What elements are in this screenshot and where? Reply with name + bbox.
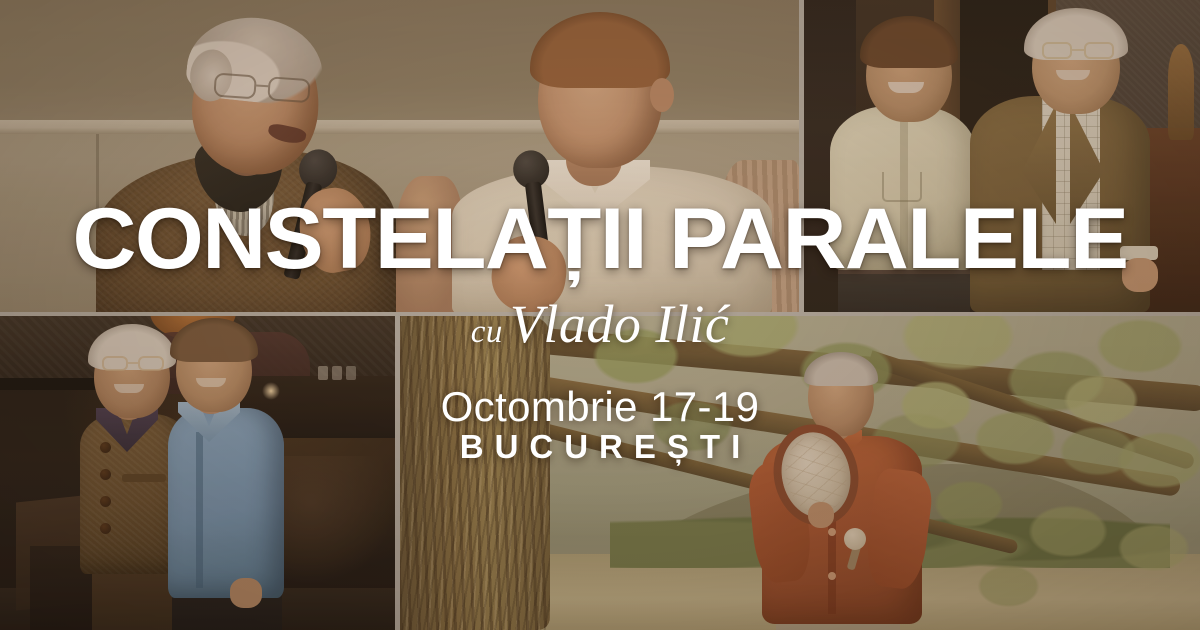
divider-horizontal-left [0,312,400,316]
young-man-hand [230,578,262,608]
right-man-smile [1056,70,1090,80]
outdoor-tree-scene [400,316,1200,630]
restaurant-scene [0,316,395,630]
young-speaker-ear [650,78,674,112]
elder-man-smile [114,384,144,393]
photo-panel-bottom-left [0,316,395,630]
background-diners [275,456,395,586]
glass-1 [318,366,328,380]
jacket-buttons [100,442,112,560]
event-poster: CONSTELAȚII PARALELE cuVlado Ilić Octomb… [0,0,1200,630]
drum-beater-head [844,528,866,550]
young-man-blue-shirt [168,408,284,598]
drummer-grey-hair [804,352,878,386]
carved-figurine [1168,44,1194,140]
photo-panel-top-right [804,0,1200,312]
elder-man-glasses [102,356,164,372]
glass-3 [346,366,356,380]
drummer-hand-on-drum [808,502,834,528]
right-man-hand [1122,258,1158,292]
right-man-glasses [1042,42,1114,60]
jacket-pocket-flap [122,474,166,482]
divider-horizontal-right [400,312,1200,316]
drummer-figure [752,352,942,630]
drummer-button-2 [828,528,836,536]
seminar-room-scene [0,0,799,312]
young-man-smile [196,378,226,387]
glass-2 [332,366,342,380]
left-man-smile [888,82,924,93]
divider-vertical-top [799,0,804,316]
divider-vertical-bottom [395,316,400,630]
blue-shirt-placket [196,432,203,588]
drummer-button-3 [828,572,836,580]
wall-rail [0,120,799,134]
photo-panel-bottom-right [400,316,1200,630]
left-man-shirt-pocket [882,172,922,202]
photo-panel-top-left [0,0,799,312]
tree-trunk [400,316,550,630]
indoor-portrait-scene [804,0,1200,312]
elder-man-trousers [92,568,180,630]
bar-light-glow [262,382,280,400]
